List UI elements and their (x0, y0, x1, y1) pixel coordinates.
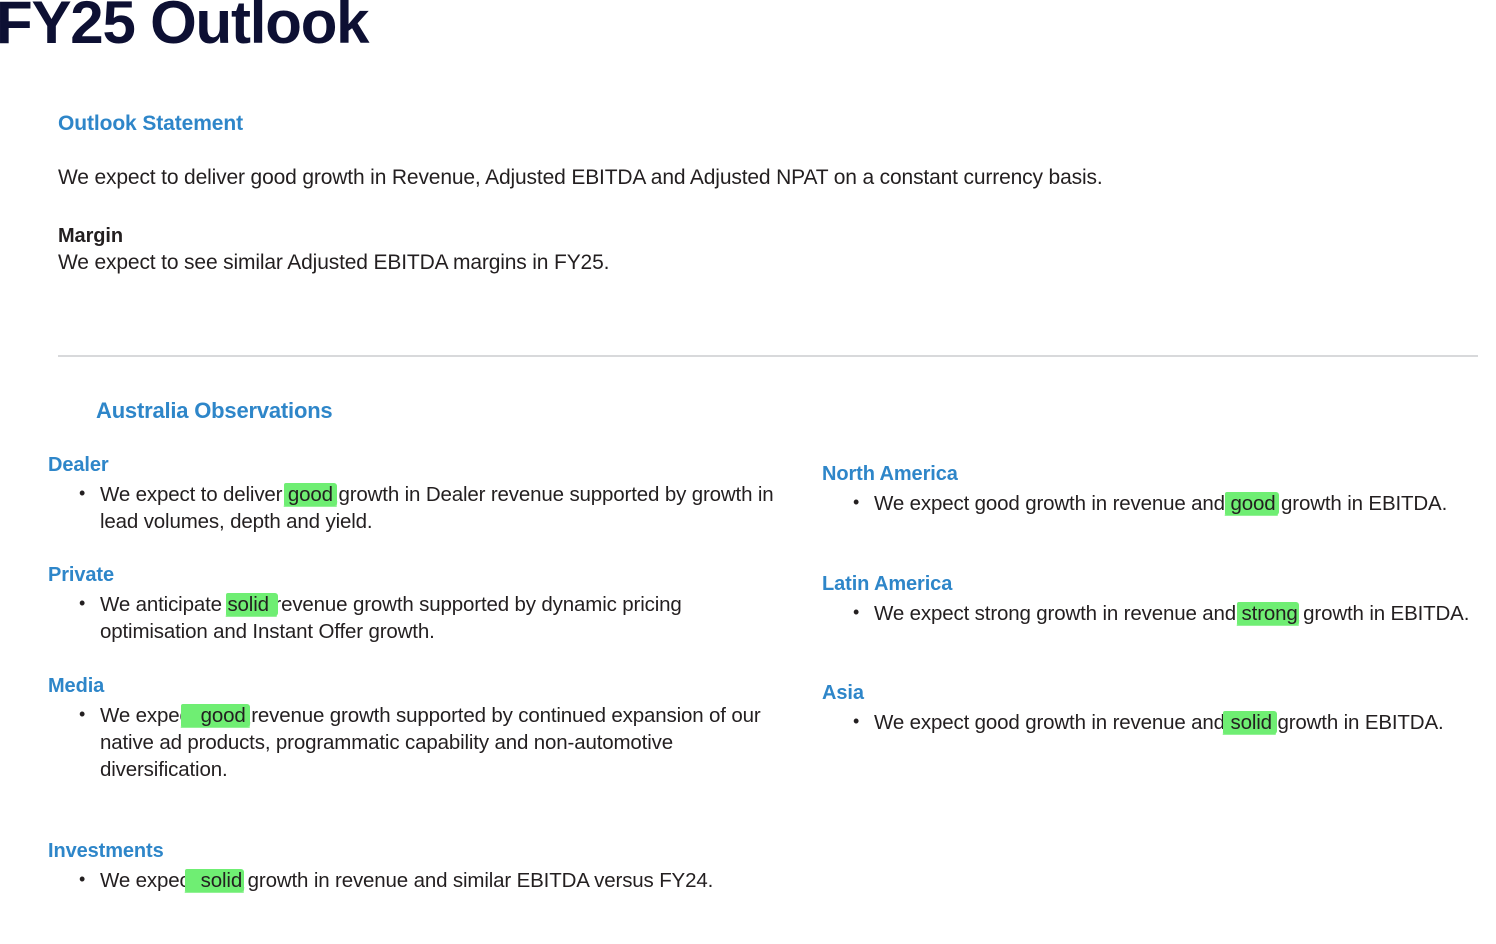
section-asia: Asia We expect good growth in revenue an… (822, 682, 1482, 736)
outlook-statement-text: We expect to deliver good growth in Reve… (58, 166, 1103, 190)
section-investments: Investments We expect solid growth in re… (48, 840, 768, 894)
highlighted-term: strong (1242, 600, 1298, 627)
bullet-list-dealer: We expect to deliver good growth in Deal… (48, 481, 778, 535)
highlighted-term: good (201, 702, 246, 729)
section-private: Private We anticipate solid revenue grow… (48, 564, 748, 645)
list-item: We expect good growth in revenue and sol… (822, 709, 1482, 736)
list-item: We expect good growth in revenue and goo… (822, 490, 1482, 517)
highlighted-term: solid (1230, 709, 1271, 736)
section-dealer: Dealer We expect to deliver good growth … (48, 454, 778, 535)
bullet-list-media: We expect good revenue growth supported … (48, 702, 778, 783)
section-media: Media We expect good revenue growth supp… (48, 675, 778, 783)
section-heading-asia: Asia (822, 682, 1482, 705)
section-divider (58, 355, 1478, 357)
bullet-list-north-america: We expect good growth in revenue and goo… (822, 490, 1482, 517)
australia-observations-title: Australia Observations (96, 398, 332, 424)
bullet-list-private: We anticipate solid revenue growth suppo… (48, 591, 748, 645)
margin-text: We expect to see similar Adjusted EBITDA… (58, 251, 609, 275)
bullet-list-investments: We expect solid growth in revenue and si… (48, 867, 768, 894)
outlook-statement-heading: Outlook Statement (58, 112, 243, 136)
list-item: We expect good revenue growth supported … (48, 702, 778, 783)
highlighted-term: solid (227, 591, 268, 618)
section-north-america: North America We expect good growth in r… (822, 463, 1482, 517)
section-heading-dealer: Dealer (48, 454, 778, 477)
margin-label: Margin (58, 225, 123, 248)
page-title: FY25 Outlook (0, 0, 368, 57)
highlighted-term: solid (201, 867, 242, 894)
bullet-list-latin-america: We expect strong growth in revenue and s… (822, 600, 1482, 627)
section-heading-latin-america: Latin America (822, 573, 1482, 596)
list-item: We expect solid growth in revenue and si… (48, 867, 768, 894)
section-heading-north-america: North America (822, 463, 1482, 486)
list-item: We anticipate solid revenue growth suppo… (48, 591, 748, 645)
highlighted-term: good (1230, 490, 1275, 517)
section-heading-investments: Investments (48, 840, 768, 863)
list-item: We expect to deliver good growth in Deal… (48, 481, 778, 535)
section-heading-media: Media (48, 675, 778, 698)
highlighted-term: good (288, 481, 333, 508)
section-heading-private: Private (48, 564, 748, 587)
section-latin-america: Latin America We expect strong growth in… (822, 573, 1482, 627)
list-item: We expect strong growth in revenue and s… (822, 600, 1482, 627)
bullet-list-asia: We expect good growth in revenue and sol… (822, 709, 1482, 736)
